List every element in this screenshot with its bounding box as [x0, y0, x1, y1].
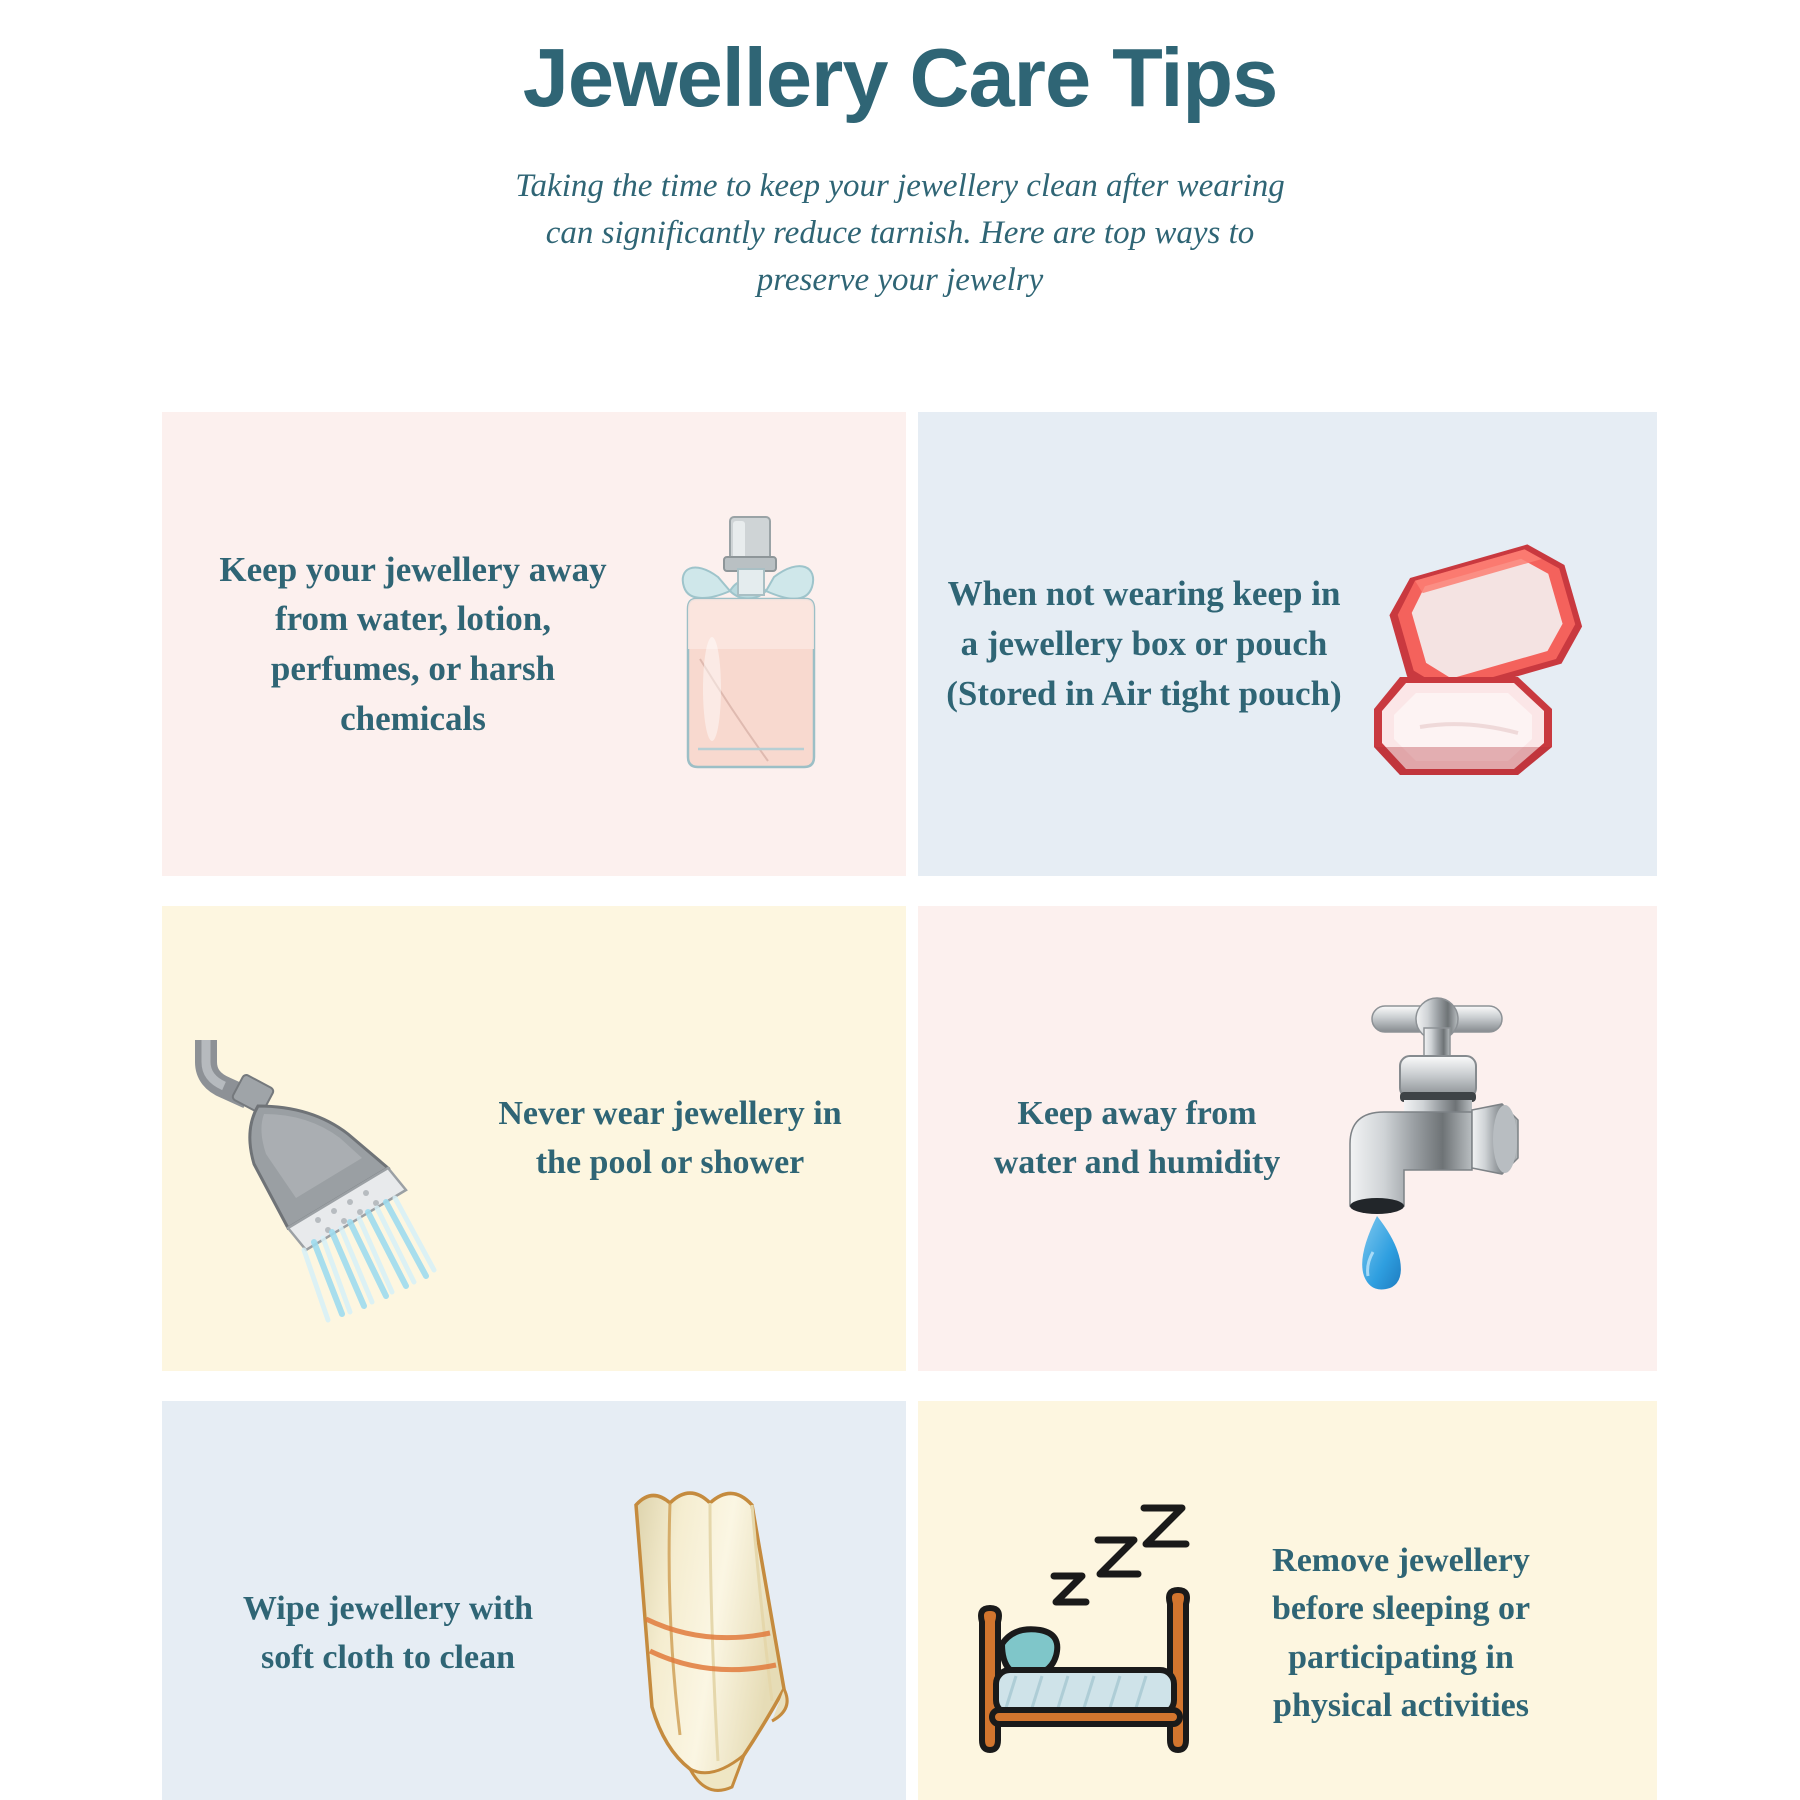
tip-text: Wipe jewellery with soft cloth to clean — [218, 1585, 558, 1682]
tip-card-chemicals[interactable]: Keep your jewellery away from water, lot… — [162, 412, 906, 876]
perfume-bottle-icon — [634, 499, 884, 789]
tip-text: Remove jewellery before sleeping or part… — [1236, 1537, 1566, 1730]
tip-card-shower[interactable]: Never wear jewellery in the pool or show… — [162, 906, 906, 1371]
tip-text: Keep away from water and humidity — [972, 1090, 1302, 1187]
tip-card-wipe[interactable]: Wipe jewellery with soft cloth to clean — [162, 1401, 906, 1800]
jewellery-box-icon — [1368, 509, 1618, 779]
faucet-drip-icon — [1342, 994, 1592, 1284]
header: Jewellery Care Tips Taking the time to k… — [0, 0, 1800, 304]
tips-grid: Keep your jewellery away from water, lot… — [162, 412, 1645, 1800]
tip-card-storage[interactable]: When not wearing keep in a jewellery box… — [918, 412, 1657, 876]
page-subtitle: Taking the time to keep your jewellery c… — [505, 163, 1295, 304]
page-title: Jewellery Care Tips — [0, 30, 1800, 125]
soft-cloth-icon — [594, 1469, 824, 1799]
tip-text: Keep your jewellery away from water, lot… — [198, 545, 628, 744]
tip-card-sleep[interactable]: Remove jewellery before sleeping or part… — [918, 1401, 1657, 1800]
bed-sleeping-icon — [958, 1504, 1218, 1764]
infographic-page: Jewellery Care Tips Taking the time to k… — [0, 0, 1800, 1800]
tip-card-humidity[interactable]: Keep away from water and humidity — [918, 906, 1657, 1371]
tip-text: When not wearing keep in a jewellery box… — [944, 569, 1344, 718]
shower-head-icon — [192, 1014, 442, 1264]
tip-text: Never wear jewellery in the pool or show… — [490, 1090, 850, 1187]
